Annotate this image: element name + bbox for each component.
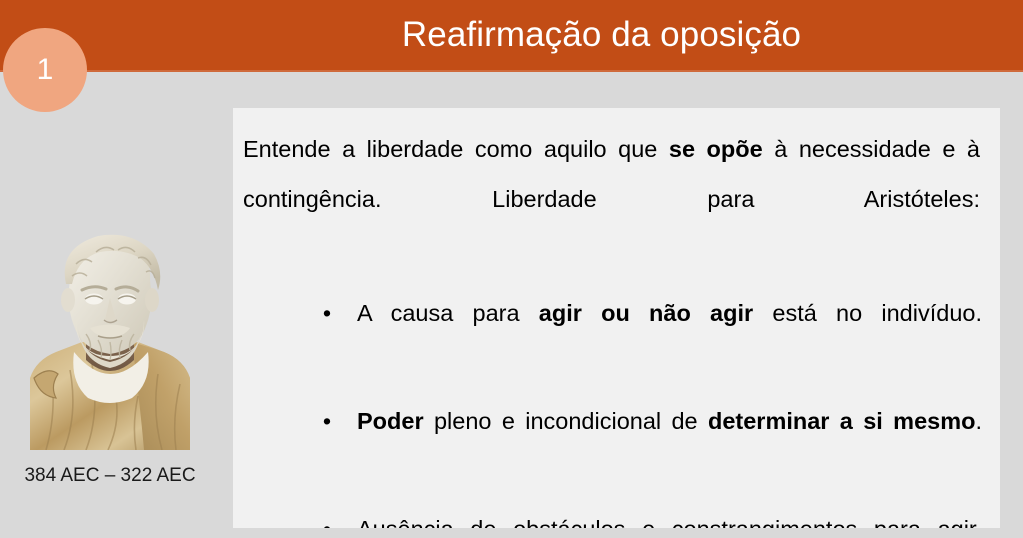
list-item: • Poder pleno e incondicional de determi… [243,396,982,496]
bullet-list: • A causa para agir ou não agir está no … [243,288,982,528]
bullet-marker: • [321,504,333,528]
bullet-marker: • [321,288,333,338]
slide-number-badge: 1 [3,28,87,112]
list-item: • Ausência de obstáculos e constrangimen… [243,504,982,528]
left-column: 384 AEC – 322 AEC [0,118,220,518]
aristotle-bust-icon [12,228,208,450]
aristotle-bust-image [12,228,208,450]
slide-root: Reafirmação da oposição 1 [0,0,1023,538]
content-panel: Entende a liberdade como aquilo que se o… [233,108,1000,528]
bullet-marker: • [321,396,333,446]
list-item: • A causa para agir ou não agir está no … [243,288,982,388]
header-underline [0,70,1023,72]
list-item-text: Poder pleno e incondicional de determina… [357,408,982,434]
slide-number-label: 1 [3,28,87,112]
slide-header-bar: Reafirmação da oposição [0,0,1023,70]
list-item-text: A causa para agir ou não agir está no in… [357,300,982,326]
page-title: Reafirmação da oposição [180,0,1023,70]
list-item-text: Ausência de obstáculos e constrangimento… [357,516,982,528]
intro-paragraph: Entende a liberdade como aquilo que se o… [243,124,982,274]
portrait-caption: 384 AEC – 322 AEC [0,465,220,487]
